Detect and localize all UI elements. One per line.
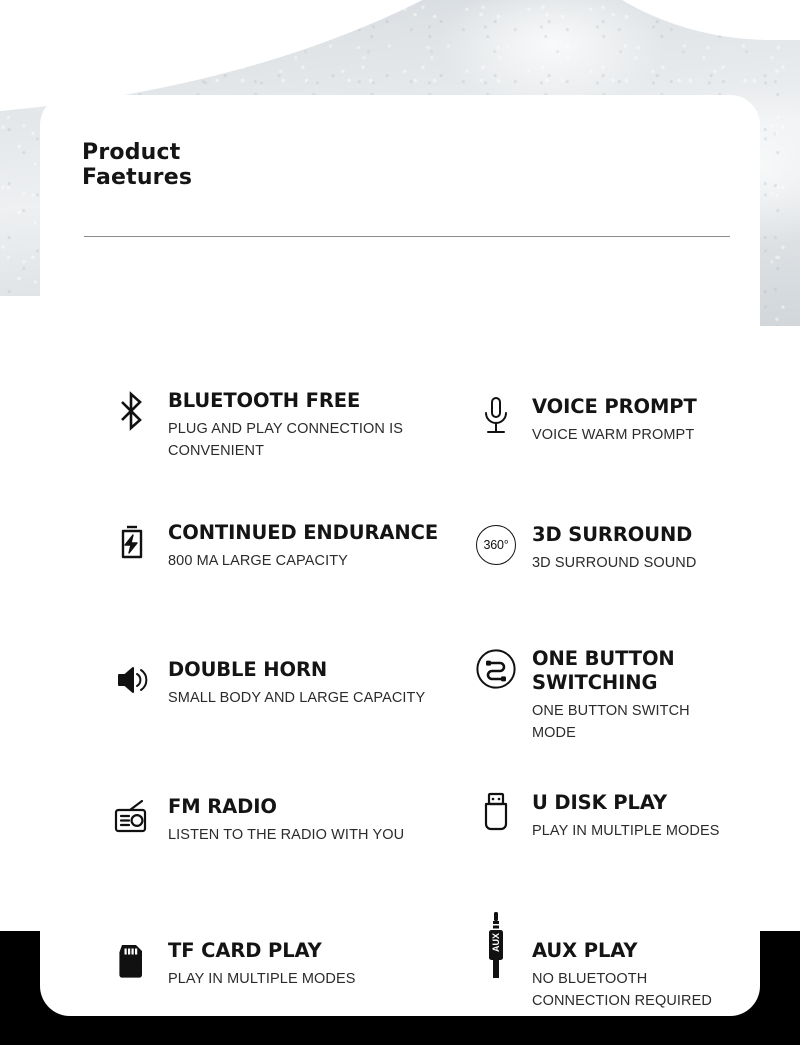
feature-item-one-button-switching[interactable]: ONE BUTTON SWITCHING ONE BUTTON SWITCH M… [474,645,760,745]
aux-jack-icon: AUX [474,923,518,971]
feature-row: FM RADIO LISTEN TO THE RADIO WITH YOU [82,783,760,929]
feature-description: NO BLUETOOTH CONNECTION REQUIRED [532,968,712,1013]
feature-description: 3D SURROUND SOUND [532,552,696,574]
feature-description: VOICE WARM PROMPT [532,424,697,446]
feature-text: U DISK PLAY PLAY IN MULTIPLE MODES [532,789,720,842]
feature-row: DOUBLE HORN SMALL BODY AND LARGE CAPACIT… [82,646,760,783]
feature-title: FM RADIO [168,795,277,818]
feature-text: VOICE PROMPT VOICE WARM PROMPT [532,393,697,446]
sd-card-icon [110,937,154,985]
feature-text: AUX PLAY NO BLUETOOTH CONNECTION REQUIRE… [532,923,712,1013]
feature-description: PLAY IN MULTIPLE MODES [168,968,356,990]
feature-row: TF CARD PLAY PLAY IN MULTIPLE MODES AUX [82,929,760,1016]
feature-item-voice-prompt[interactable]: VOICE PROMPT VOICE WARM PROMPT [474,393,760,446]
svg-text:AUX: AUX [491,933,501,952]
360-degree-icon: 360° [474,521,518,569]
feature-description: LISTEN TO THE RADIO WITH YOU [168,824,404,846]
feature-title: U DISK PLAY [532,791,667,814]
feature-text: FM RADIO LISTEN TO THE RADIO WITH YOU [168,793,404,846]
feature-description: PLUG AND PLAY CONNECTION IS CONVENIENT [168,418,403,463]
feature-item-3d-surround[interactable]: 360° 3D SURROUND 3D SURROUND SOUND [474,521,760,574]
usb-drive-icon [474,789,518,837]
feature-row: BLUETOOTH FREE PLUG AND PLAY CONNECTION … [82,387,760,519]
feature-title: BLUETOOTH FREE [168,389,360,412]
battery-charging-icon [110,519,154,567]
feature-item-double-horn[interactable]: DOUBLE HORN SMALL BODY AND LARGE CAPACIT… [110,656,470,709]
feature-title: DOUBLE HORN [168,658,327,681]
feature-title: VOICE PROMPT [532,395,697,418]
feature-title: TF CARD PLAY [168,939,322,962]
feature-text: ONE BUTTON SWITCHING ONE BUTTON SWITCH M… [532,645,690,745]
feature-description: ONE BUTTON SWITCH MODE [532,700,690,745]
feature-description: PLAY IN MULTIPLE MODES [532,820,720,842]
feature-item-continued-endurance[interactable]: CONTINUED ENDURANCE 800 MA LARGE CAPACIT… [110,519,470,572]
radio-icon [110,793,154,841]
one-button-switch-icon [474,645,518,693]
page-background: S Product Faetures BLUETOOTH FREE PLUG A… [0,0,800,1045]
feature-item-u-disk-play[interactable]: U DISK PLAY PLAY IN MULTIPLE MODES [474,789,760,842]
page-title: Product Faetures [82,140,720,191]
features-grid: BLUETOOTH FREE PLUG AND PLAY CONNECTION … [82,387,760,1016]
feature-title: 3D SURROUND [532,523,692,546]
speaker-icon [110,656,154,704]
feature-text: BLUETOOTH FREE PLUG AND PLAY CONNECTION … [168,387,403,463]
feature-text: TF CARD PLAY PLAY IN MULTIPLE MODES [168,937,356,990]
feature-description: SMALL BODY AND LARGE CAPACITY [168,687,425,709]
title-divider [84,236,730,237]
feature-row: CONTINUED ENDURANCE 800 MA LARGE CAPACIT… [82,519,760,646]
feature-item-aux-play[interactable]: AUX AUX PLAY NO BLUETOOTH CONNECTION REQ… [474,923,760,1013]
feature-title: AUX PLAY [532,939,637,962]
feature-item-tf-card-play[interactable]: TF CARD PLAY PLAY IN MULTIPLE MODES [110,937,470,990]
bluetooth-icon [110,387,154,435]
feature-title: ONE BUTTON SWITCHING [532,647,675,694]
feature-description: 800 MA LARGE CAPACITY [168,550,438,572]
feature-text: DOUBLE HORN SMALL BODY AND LARGE CAPACIT… [168,656,425,709]
microphone-icon [474,393,518,441]
feature-text: 3D SURROUND 3D SURROUND SOUND [532,521,696,574]
feature-title: CONTINUED ENDURANCE [168,521,438,544]
360-degree-label: 360° [476,525,516,565]
feature-item-fm-radio[interactable]: FM RADIO LISTEN TO THE RADIO WITH YOU [110,793,470,846]
feature-text: CONTINUED ENDURANCE 800 MA LARGE CAPACIT… [168,519,438,572]
product-features-card: Product Faetures BLUETOOTH FREE PLUG AND… [40,95,760,1016]
feature-item-bluetooth-free[interactable]: BLUETOOTH FREE PLUG AND PLAY CONNECTION … [110,387,470,463]
